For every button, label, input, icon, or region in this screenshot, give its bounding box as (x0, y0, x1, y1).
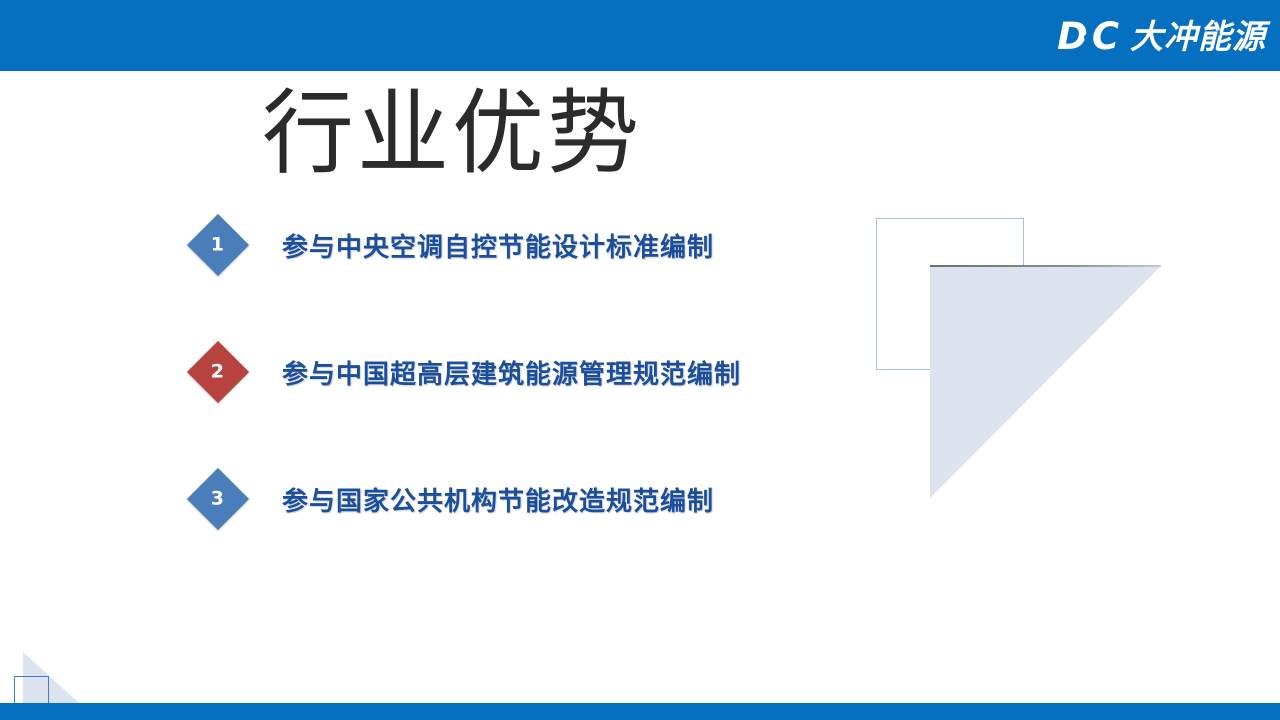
presentation-slide: DC 大冲能源 行业优势 1 参与中央空调自控节能设计标准编制 2 参与中国超高… (0, 0, 1280, 720)
diamond-badge-3: 3 (187, 468, 249, 530)
diamond-number: 2 (211, 362, 224, 381)
diamond-number: 3 (211, 489, 224, 508)
decoration-triangle-edge (930, 265, 1161, 267)
diamond-badge-2: 2 (187, 341, 249, 403)
logo-letter-d: D (1057, 18, 1087, 55)
company-logo: DC 大冲能源 (1057, 13, 1266, 59)
decoration-bottom-left (12, 652, 102, 707)
bullet-list: 1 参与中央空调自控节能设计标准编制 2 参与中国超高层建筑能源管理规范编制 3… (196, 213, 836, 594)
list-item-label: 参与中央空调自控节能设计标准编制 (282, 227, 714, 264)
decoration-right (876, 218, 1176, 508)
page-title: 行业优势 (262, 86, 642, 183)
footer-bar (0, 703, 1280, 720)
list-item-label: 参与中国超高层建筑能源管理规范编制 (282, 354, 741, 391)
logo-dot-icon (1084, 34, 1091, 41)
list-item: 3 参与国家公共机构节能改造规范编制 (196, 467, 836, 531)
diamond-number: 1 (211, 235, 224, 254)
logo-company-name: 大冲能源 (1130, 20, 1266, 53)
diamond-badge-1: 1 (187, 214, 249, 276)
list-item: 1 参与中央空调自控节能设计标准编制 (196, 213, 836, 277)
list-item: 2 参与中国超高层建筑能源管理规范编制 (196, 340, 836, 404)
header-bar: DC 大冲能源 (0, 0, 1280, 71)
list-item-label: 参与国家公共机构节能改造规范编制 (282, 481, 714, 518)
logo-monogram: DC (1057, 18, 1118, 55)
logo-letter-c: C (1092, 18, 1118, 55)
decoration-triangle (930, 267, 1160, 498)
